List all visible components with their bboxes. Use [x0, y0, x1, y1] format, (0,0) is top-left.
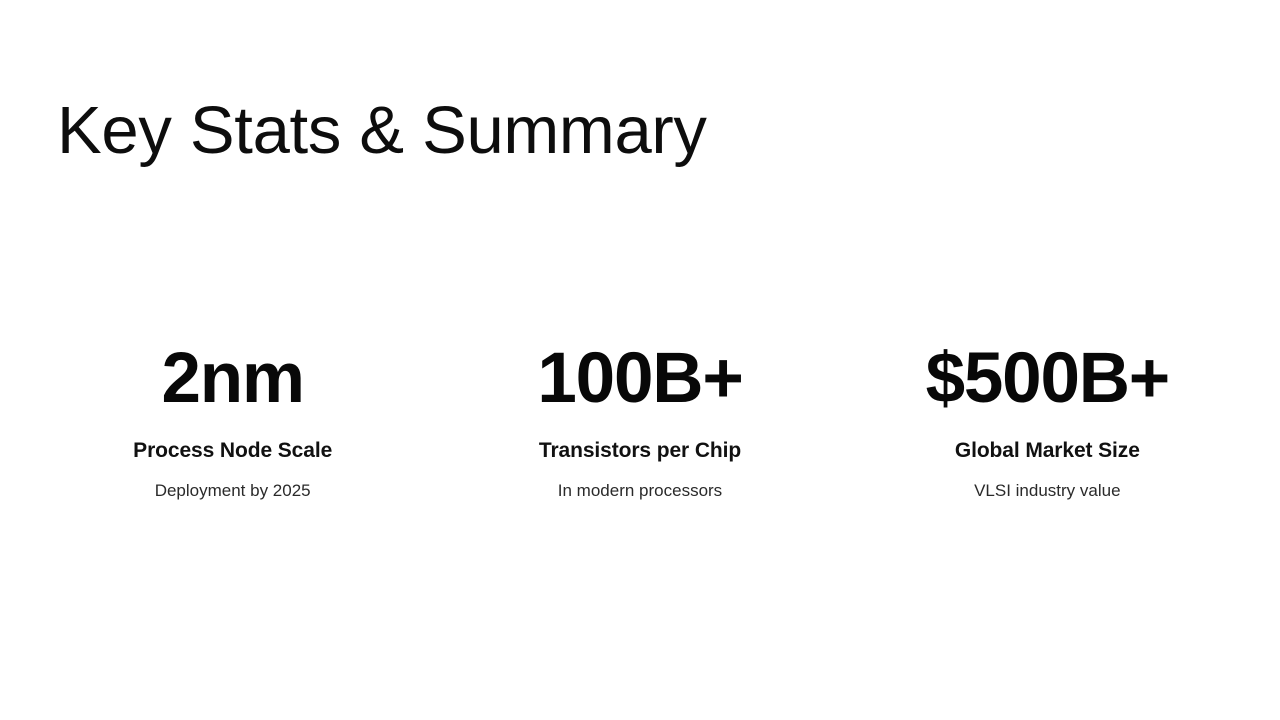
stat-card-market-size: $500B+ Global Market Size VLSI industry … [844, 343, 1251, 501]
stat-label: Process Node Scale [39, 438, 426, 463]
stat-sublabel: VLSI industry value [854, 480, 1241, 501]
stat-sublabel: Deployment by 2025 [39, 480, 426, 501]
key-stats-row: 2nm Process Node Scale Deployment by 202… [29, 343, 1251, 501]
stat-value: $500B+ [854, 343, 1241, 414]
stat-card-transistors: 100B+ Transistors per Chip In modern pro… [436, 343, 843, 501]
stat-sublabel: In modern processors [446, 480, 833, 501]
stat-label: Global Market Size [854, 438, 1241, 463]
stat-card-process-node: 2nm Process Node Scale Deployment by 202… [29, 343, 436, 501]
page-title: Key Stats & Summary [57, 95, 1223, 167]
stat-value: 2nm [39, 343, 426, 414]
stat-value: 100B+ [446, 343, 833, 414]
stat-label: Transistors per Chip [446, 438, 833, 463]
presentation-slide: Key Stats & Summary 2nm Process Node Sca… [0, 0, 1280, 720]
